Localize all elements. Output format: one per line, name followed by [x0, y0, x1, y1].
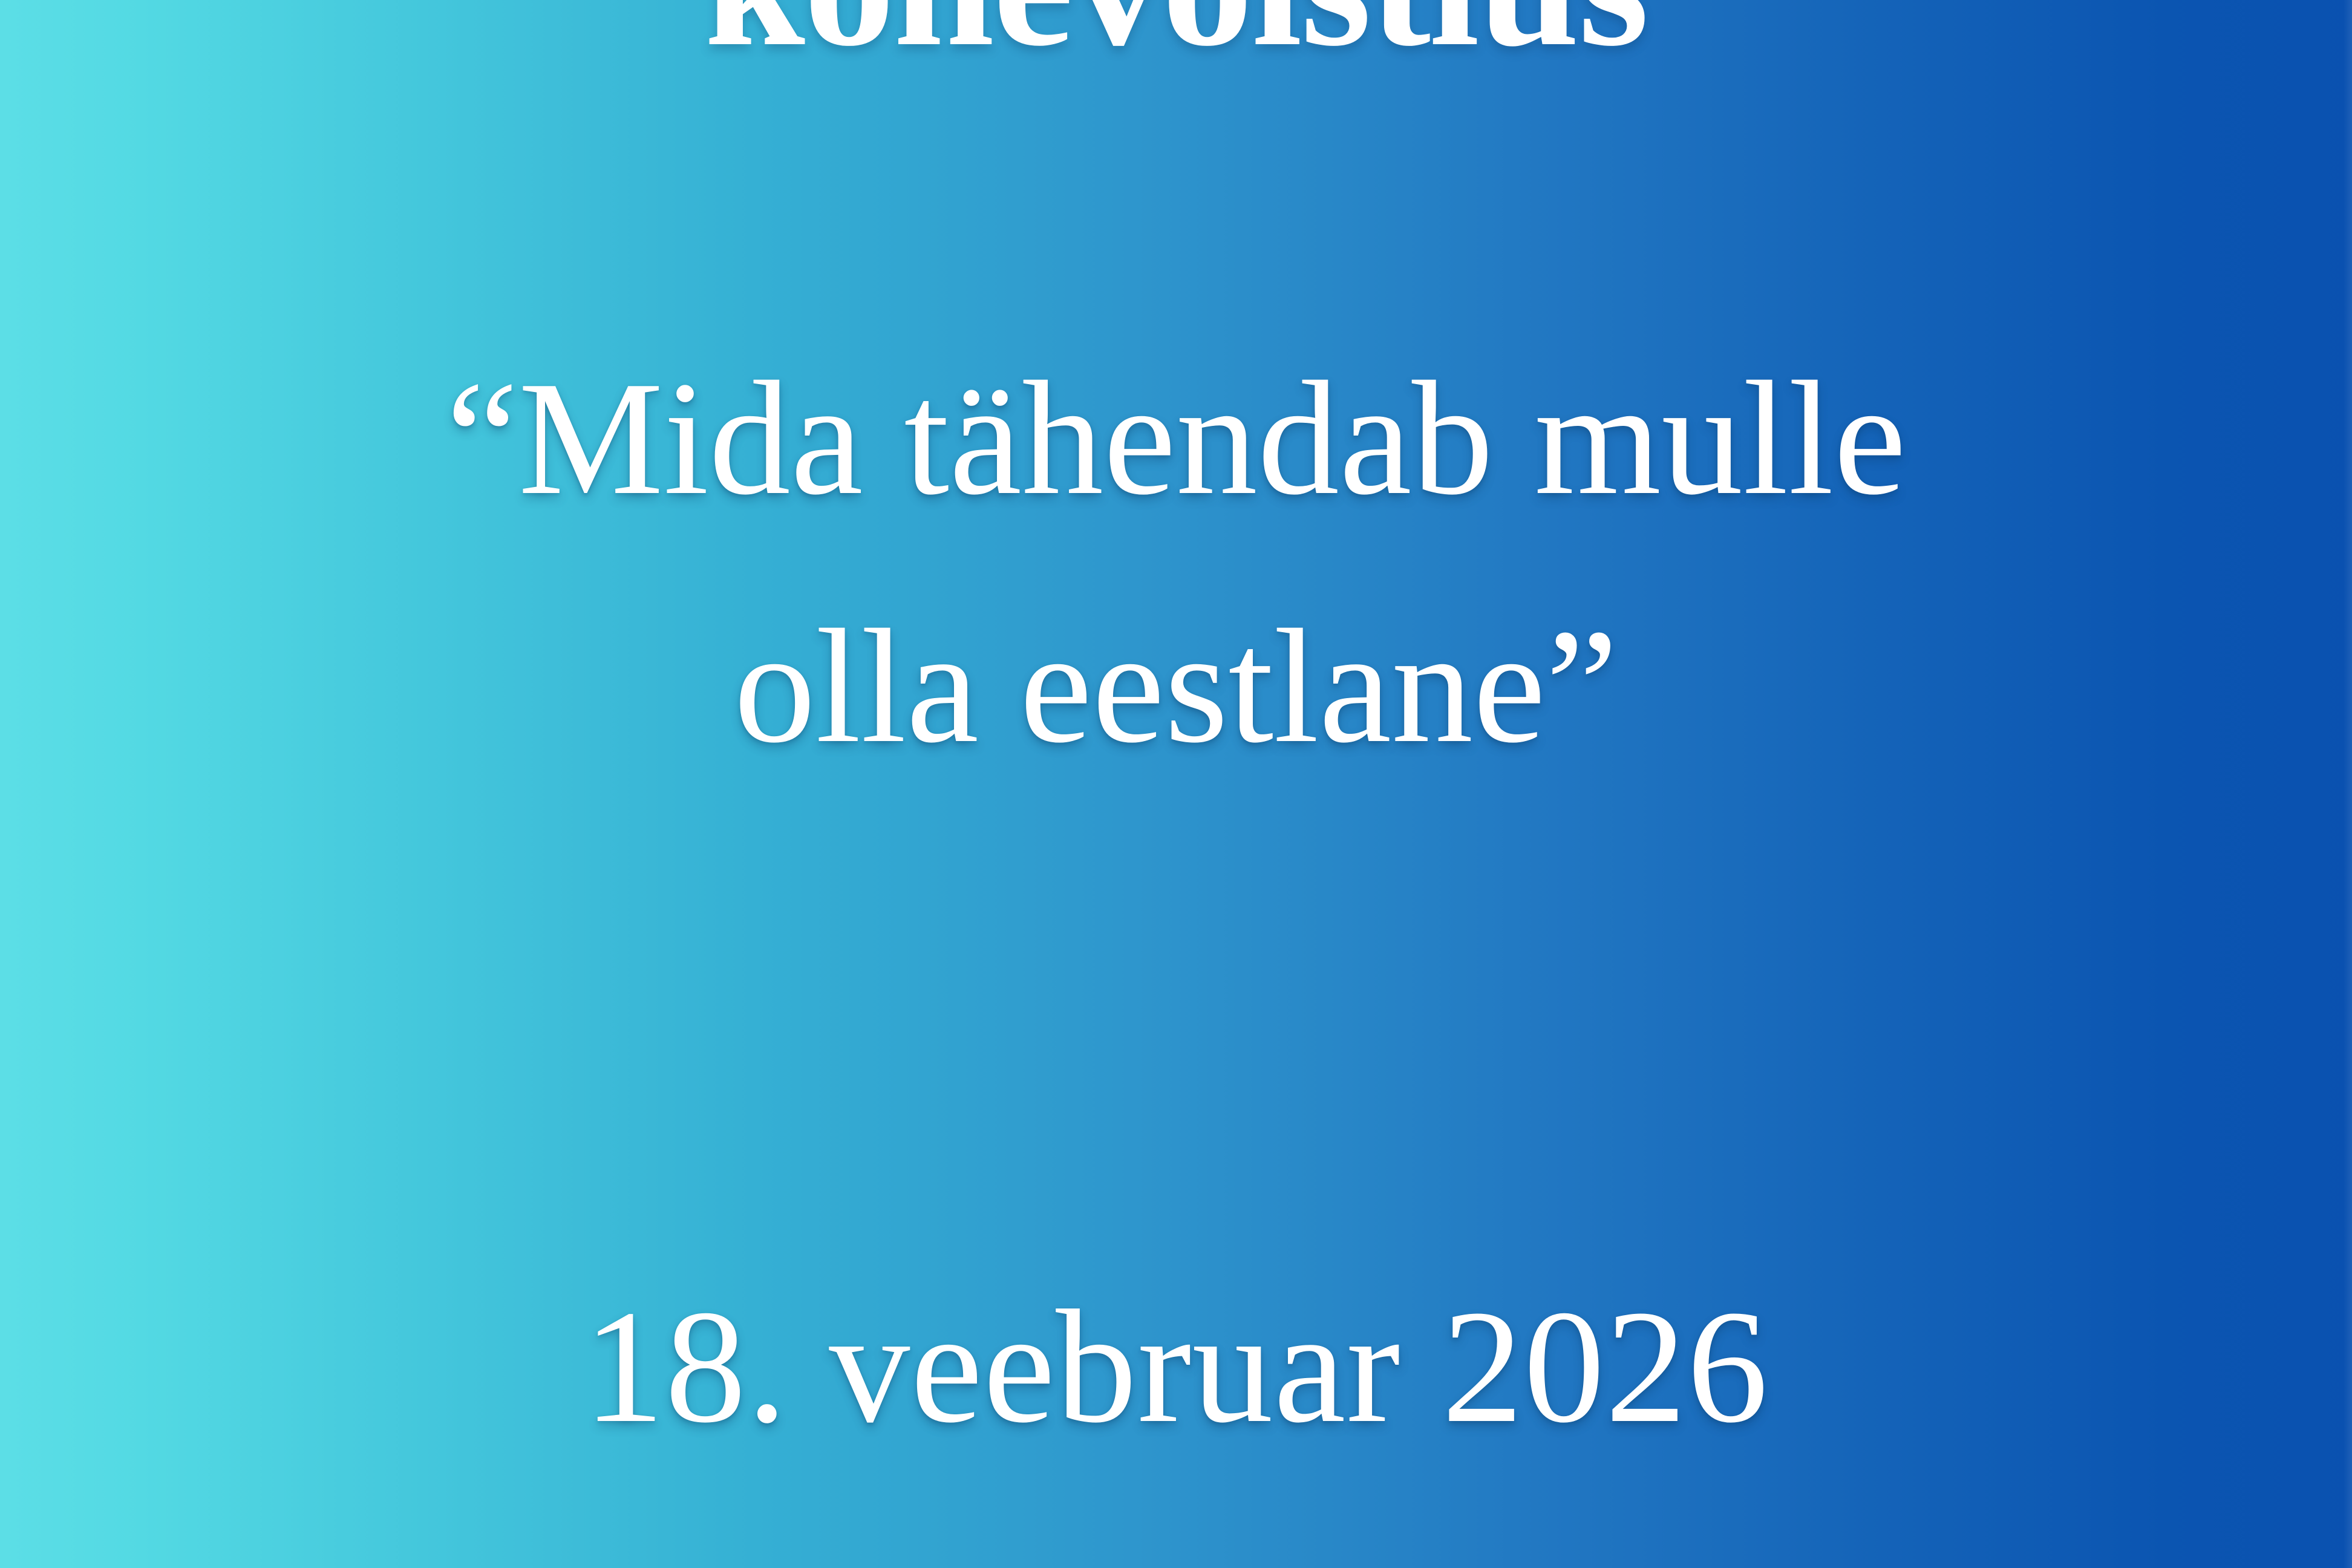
event-poster: kõnevõistlus “Mida tähendab mulle olla e… — [0, 0, 2352, 1568]
event-date: 18. veebruar 2026 — [0, 1285, 2352, 1448]
poster-title: kõnevõistlus — [0, 0, 2352, 74]
quote-line-1: “Mida tähendab mulle — [0, 357, 2352, 520]
quote-line-2: olla eestlane” — [0, 605, 2352, 768]
poster-title-clip: kõnevõistlus — [0, 0, 2352, 110]
